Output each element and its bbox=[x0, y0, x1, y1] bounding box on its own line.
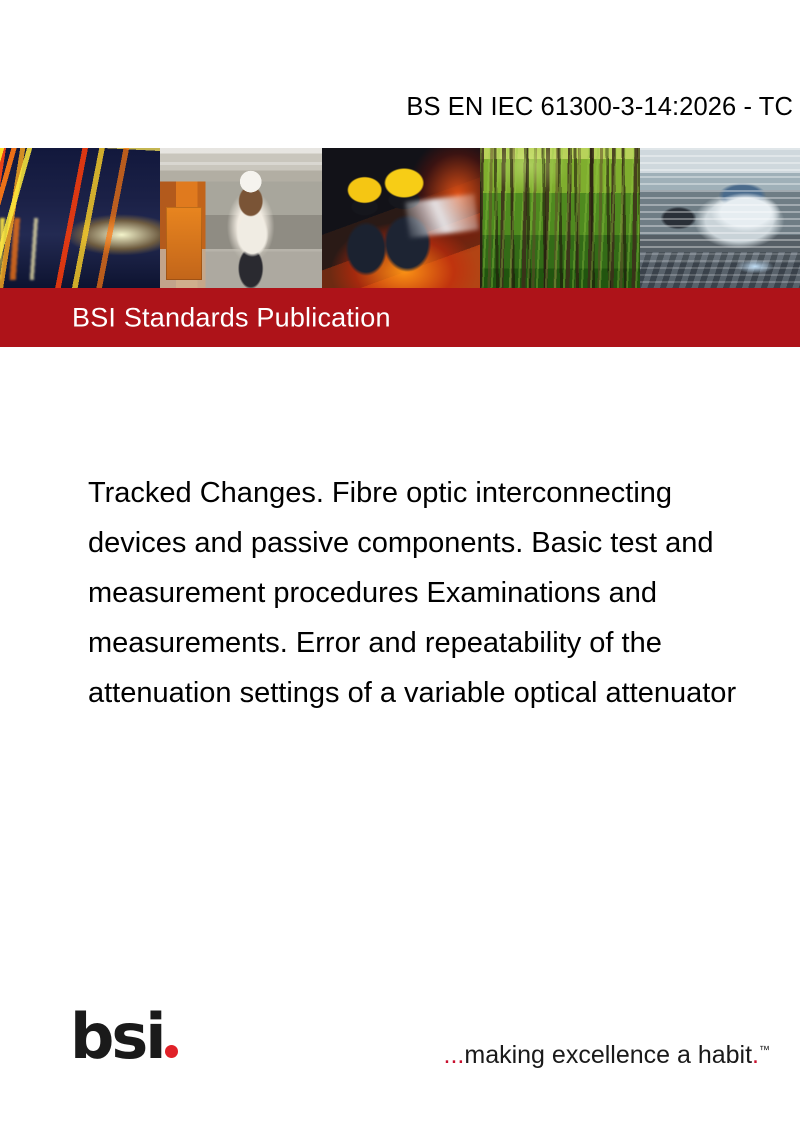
publication-title: Tracked Changes. Fibre optic interconnec… bbox=[88, 468, 778, 718]
document-reference: BS EN IEC 61300-3-14:2026 - TC bbox=[406, 93, 793, 122]
tagline-text: making excellence a habit bbox=[464, 1041, 752, 1069]
footer: bsi ...making excellence a habit.™ bbox=[0, 992, 800, 1132]
cover-page: BS EN IEC 61300-3-14:2026 - TC BSI Stand… bbox=[0, 0, 800, 1132]
bsi-logo-dot-icon bbox=[165, 1045, 178, 1058]
photo-strip bbox=[0, 148, 800, 288]
trademark-icon: ™ bbox=[759, 1045, 770, 1057]
photo-panel-car-assembly-line bbox=[640, 148, 800, 288]
photo-panel-warehouse-worker bbox=[160, 148, 322, 288]
bsi-logo: bsi bbox=[70, 1004, 190, 1070]
photo-panel-forest-trees bbox=[480, 148, 640, 288]
bsi-tagline: ...making excellence a habit.™ bbox=[444, 1041, 770, 1070]
photo-panel-night-traffic-light-trails bbox=[0, 148, 160, 288]
tagline-endmark: . bbox=[752, 1041, 759, 1069]
bsi-standards-banner: BSI Standards Publication bbox=[0, 288, 800, 347]
tagline-leading-dots: ... bbox=[444, 1041, 465, 1069]
photo-panel-firefighters-with-hose bbox=[322, 148, 480, 288]
banner-label: BSI Standards Publication bbox=[72, 302, 391, 333]
bsi-logo-wordmark: bsi bbox=[70, 1000, 164, 1073]
